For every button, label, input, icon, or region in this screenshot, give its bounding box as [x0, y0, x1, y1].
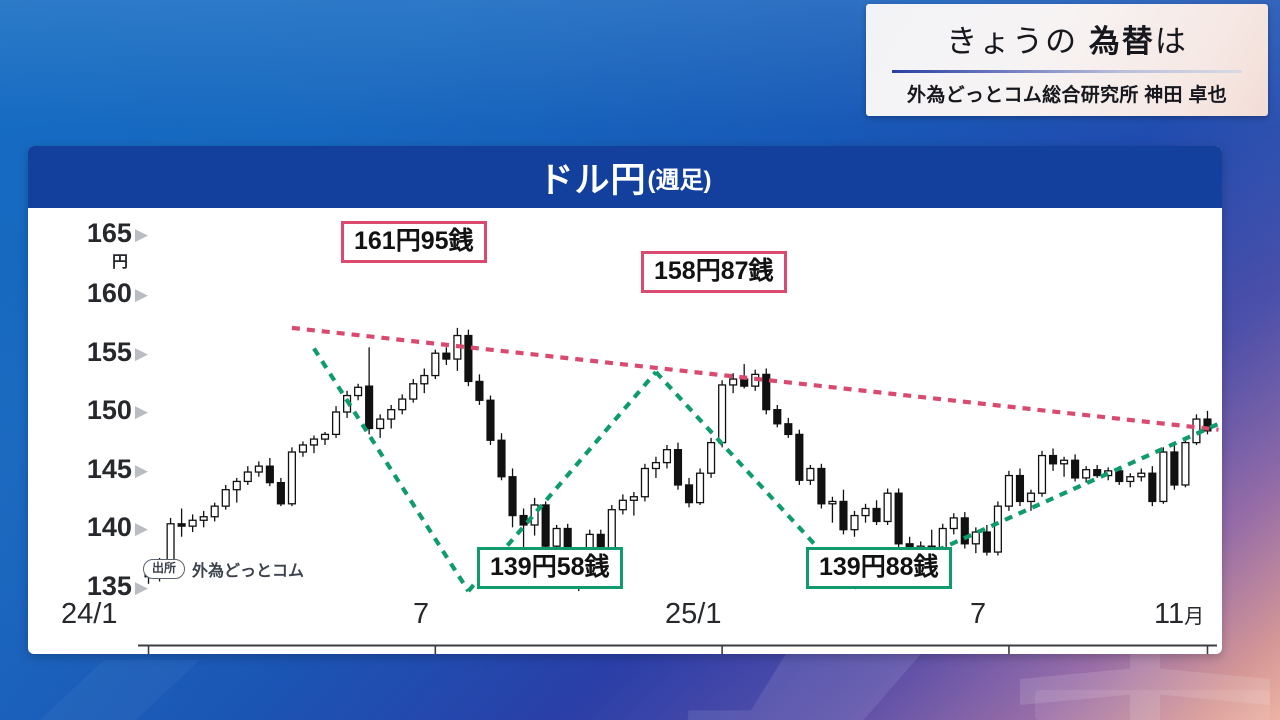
x-tick-3: 7	[970, 598, 986, 631]
trendline-resistance	[292, 328, 1219, 430]
y-axis-unit-label: 円	[112, 248, 128, 272]
y-tick-150-value: 150	[87, 395, 132, 425]
program-header-banner: きょうの 為替は 外為どっとコム総合研究所 神田 卓也	[866, 4, 1268, 116]
y-tick-165: 165▶	[58, 218, 148, 249]
trendline-support-down-1	[314, 348, 468, 591]
y-tick-145: 145▶	[58, 454, 148, 485]
chart-plot-area	[28, 210, 1222, 654]
annotation-139-58: 139円58銭	[477, 547, 623, 589]
y-tick-160: 160▶	[58, 278, 148, 309]
y-tick-155-value: 155	[87, 337, 132, 367]
chart-title-bar: ドル円(週足)	[28, 146, 1222, 210]
y-tick-arrow-icon: ▶	[135, 344, 148, 363]
y-tick-arrow-icon: ▶	[135, 461, 148, 480]
header-divider	[892, 70, 1242, 73]
program-title-keyword: 為替	[1089, 24, 1155, 59]
y-tick-145-value: 145	[87, 454, 132, 484]
annotation-161-95: 161円95銭	[341, 221, 487, 263]
program-title-prefix: きょうの	[946, 24, 1089, 59]
x-tick-2: 25/1	[665, 598, 721, 631]
x-tick-0: 24/1	[61, 598, 117, 631]
program-title: きょうの 為替は	[946, 16, 1188, 61]
y-tick-140: 140▶	[58, 512, 148, 543]
y-tick-135-value: 135	[87, 571, 132, 601]
chart-title-sub: (週足)	[648, 160, 712, 195]
y-tick-140-value: 140	[87, 512, 132, 542]
x-tick-month-unit: 月	[1184, 606, 1204, 628]
y-tick-155: 155▶	[58, 337, 148, 368]
program-subtitle: 外為どっとコム総合研究所 神田 卓也	[907, 80, 1227, 107]
candlestick-chart	[28, 210, 1222, 654]
x-tick-1: 7	[413, 598, 429, 631]
chart-title-main: ドル円	[539, 152, 647, 203]
y-tick-160-value: 160	[87, 278, 132, 308]
annotation-139-88: 139円88銭	[806, 547, 952, 589]
y-tick-arrow-icon: ▶	[135, 519, 148, 538]
y-tick-150: 150▶	[58, 395, 148, 426]
watermark-shape-3	[1035, 690, 1270, 720]
candle-series	[145, 328, 1211, 591]
y-tick-arrow-icon: ▶	[135, 402, 148, 421]
source-name: 外為どっとコム	[192, 557, 304, 581]
program-title-suffix: は	[1155, 24, 1188, 59]
source-attribution: 出所 外為どっとコム	[143, 557, 304, 581]
y-tick-arrow-icon: ▶	[135, 225, 148, 244]
y-tick-165-value: 165	[87, 218, 132, 248]
source-badge: 出所	[143, 559, 185, 579]
y-tick-arrow-icon: ▶	[135, 285, 148, 304]
x-tick-4: 11月	[1154, 598, 1204, 631]
annotation-158-87: 158円87銭	[641, 251, 787, 293]
